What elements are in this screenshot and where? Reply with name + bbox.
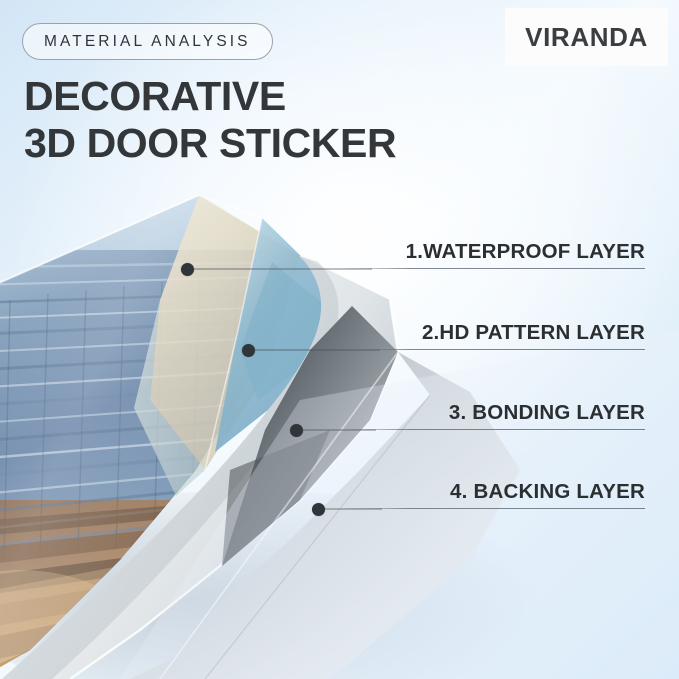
page-title-line-1: DECORATIVE [24,76,286,117]
brand-logo: VIRANDA [505,8,668,66]
layer-callout-3-label: 3. BONDING LAYER [345,401,645,429]
layer-callout-4-rule [345,508,645,509]
layer-marker-dot-1 [181,263,194,276]
layer-callout-1-rule [345,268,645,269]
layer-marker-dot-3 [290,424,303,437]
layer-callout-2: 2.HD PATTERN LAYER [345,321,645,350]
layer-callout-2-rule [345,349,645,350]
layer-marker-dot-2 [242,344,255,357]
layer-callout-4: 4. BACKING LAYER [345,480,645,509]
layer-callout-2-label: 2.HD PATTERN LAYER [345,321,645,349]
layer-callout-3-rule [345,429,645,430]
badge-label: MATERIAL ANALYSIS [44,33,251,51]
page-title-line-2: 3D DOOR STICKER [24,123,396,164]
layer-callout-3: 3. BONDING LAYER [345,401,645,430]
layer-callout-1: 1.WATERPROOF LAYER [345,240,645,269]
material-analysis-badge: MATERIAL ANALYSIS [22,23,273,60]
layer-marker-dot-4 [312,503,325,516]
poster-canvas: MATERIAL ANALYSIS DECORATIVE 3D DOOR STI… [0,0,679,679]
layer-callout-4-label: 4. BACKING LAYER [345,480,645,508]
brand-logo-text: VIRANDA [525,22,648,53]
layer-callout-1-label: 1.WATERPROOF LAYER [345,240,645,268]
